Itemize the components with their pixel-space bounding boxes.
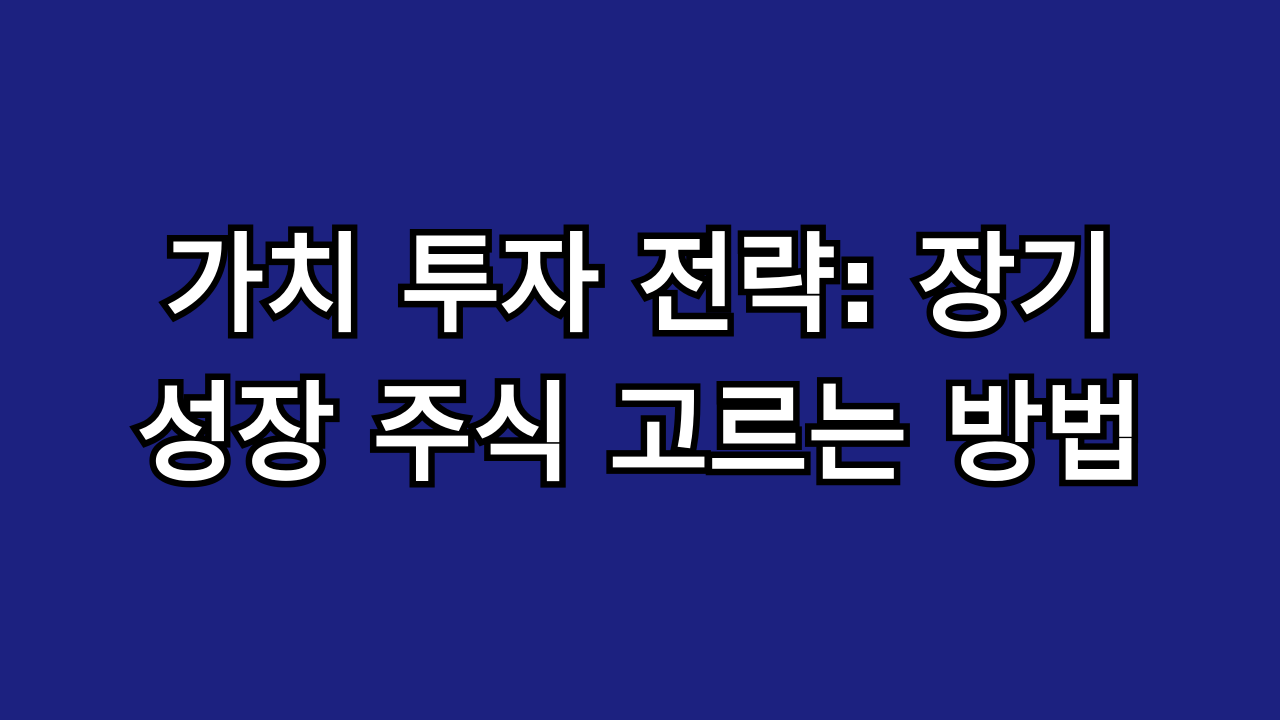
title-block: 가치 투자 전략: 장기 성장 주식 고르는 방법 [0, 211, 1280, 509]
title-line-1: 가치 투자 전략: 장기 [165, 211, 1116, 360]
title-line-2: 성장 주식 고르는 방법 [136, 360, 1143, 509]
thumbnail-card: 가치 투자 전략: 장기 성장 주식 고르는 방법 [0, 0, 1280, 720]
